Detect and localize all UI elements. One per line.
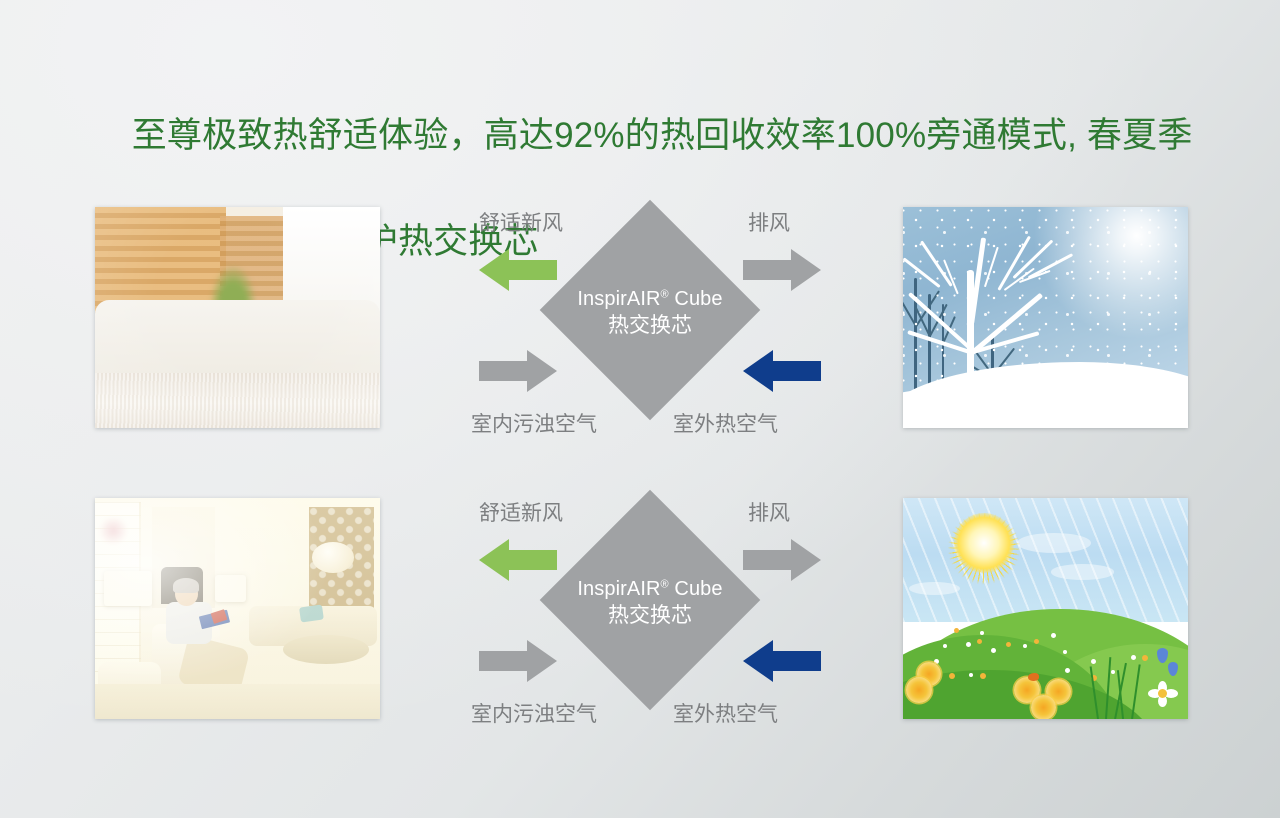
slide-canvas: 至尊极致热舒适体验，高达92%的热回收效率100%旁通模式, 春夏季 节超低能耗…: [0, 0, 1280, 818]
cloud-icon: [1051, 564, 1114, 579]
heat-exchanger-cn: 热交换芯: [515, 314, 785, 339]
label-indoor-polluted-air: 室内污浊空气: [471, 698, 597, 728]
meadow-flower-white: [980, 631, 984, 635]
sun-icon: [954, 513, 1014, 573]
summer-scene: [903, 498, 1188, 719]
dandelion-icon: [906, 677, 932, 703]
dandelion-icon: [1031, 695, 1056, 719]
arrow-outdoor-air-left-blue: [743, 348, 821, 394]
meadow-flower-white: [932, 635, 936, 639]
meadow-flower-yellow: [949, 673, 955, 679]
arrow-exhaust-air-right-gray: [743, 537, 821, 583]
winter-diagram: InspirAIR® Cube 热交换芯 舒适新风 排风 室内污浊: [455, 200, 845, 450]
meadow-flower-white: [943, 644, 947, 648]
registered-trademark-icon: ®: [661, 578, 669, 590]
meadow-flower-yellow: [1006, 642, 1011, 647]
label-exhaust-air: 排风: [748, 497, 790, 527]
meadow-flower-white: [1051, 633, 1056, 638]
arrow-outdoor-air-left-blue: [743, 638, 821, 684]
falling-snow: [903, 207, 1188, 428]
butterfly-icon: [1028, 673, 1039, 681]
title-line-1: 至尊极致热舒适体验，高达92%的热回收效率100%旁通模式, 春夏季: [132, 116, 1193, 155]
summer-scene-inner: [903, 498, 1188, 719]
meadow-flower-white: [969, 673, 973, 677]
label-outdoor-hot-air: 室外热空气: [673, 408, 778, 438]
winter-scene: [903, 207, 1188, 428]
arrow-indoor-polluted-air-right-gray: [479, 348, 557, 394]
family-photo: [95, 207, 380, 428]
meadow-flower-yellow: [980, 673, 986, 679]
registered-trademark-icon: ®: [661, 288, 669, 300]
arrow-indoor-polluted-air-right-gray: [479, 638, 557, 684]
arrow-supply-air-left-green: [479, 247, 557, 293]
label-supply-air: 舒适新风: [479, 497, 563, 527]
arrow-exhaust-air-right-gray: [743, 247, 821, 293]
photo-soft-light: [95, 207, 380, 428]
label-exhaust-air: 排风: [748, 207, 790, 237]
living-room-photo: [95, 498, 380, 719]
heat-exchanger-label: InspirAIR® Cube 热交换芯: [515, 578, 785, 628]
label-supply-air: 舒适新风: [479, 207, 563, 237]
meadow-flower-white: [1131, 655, 1136, 660]
living-room-photo-inner: [95, 498, 380, 719]
photo-soft-light: [95, 498, 380, 719]
summer-diagram: InspirAIR® Cube 热交换芯 舒适新风 排风 室内污浊空气 室外热: [455, 490, 845, 740]
heat-exchanger-cn: 热交换芯: [515, 604, 785, 629]
daisy-icon: [1148, 681, 1178, 707]
meadow-flower-white: [1023, 644, 1027, 648]
winter-scene-inner: [903, 207, 1188, 428]
arrow-supply-air-left-green: [479, 537, 557, 583]
heat-exchanger-label: InspirAIR® Cube 热交换芯: [515, 288, 785, 338]
meadow-flower-white: [966, 642, 971, 647]
label-outdoor-hot-air: 室外热空气: [673, 698, 778, 728]
label-indoor-polluted-air: 室内污浊空气: [471, 408, 597, 438]
family-photo-inner: [95, 207, 380, 428]
